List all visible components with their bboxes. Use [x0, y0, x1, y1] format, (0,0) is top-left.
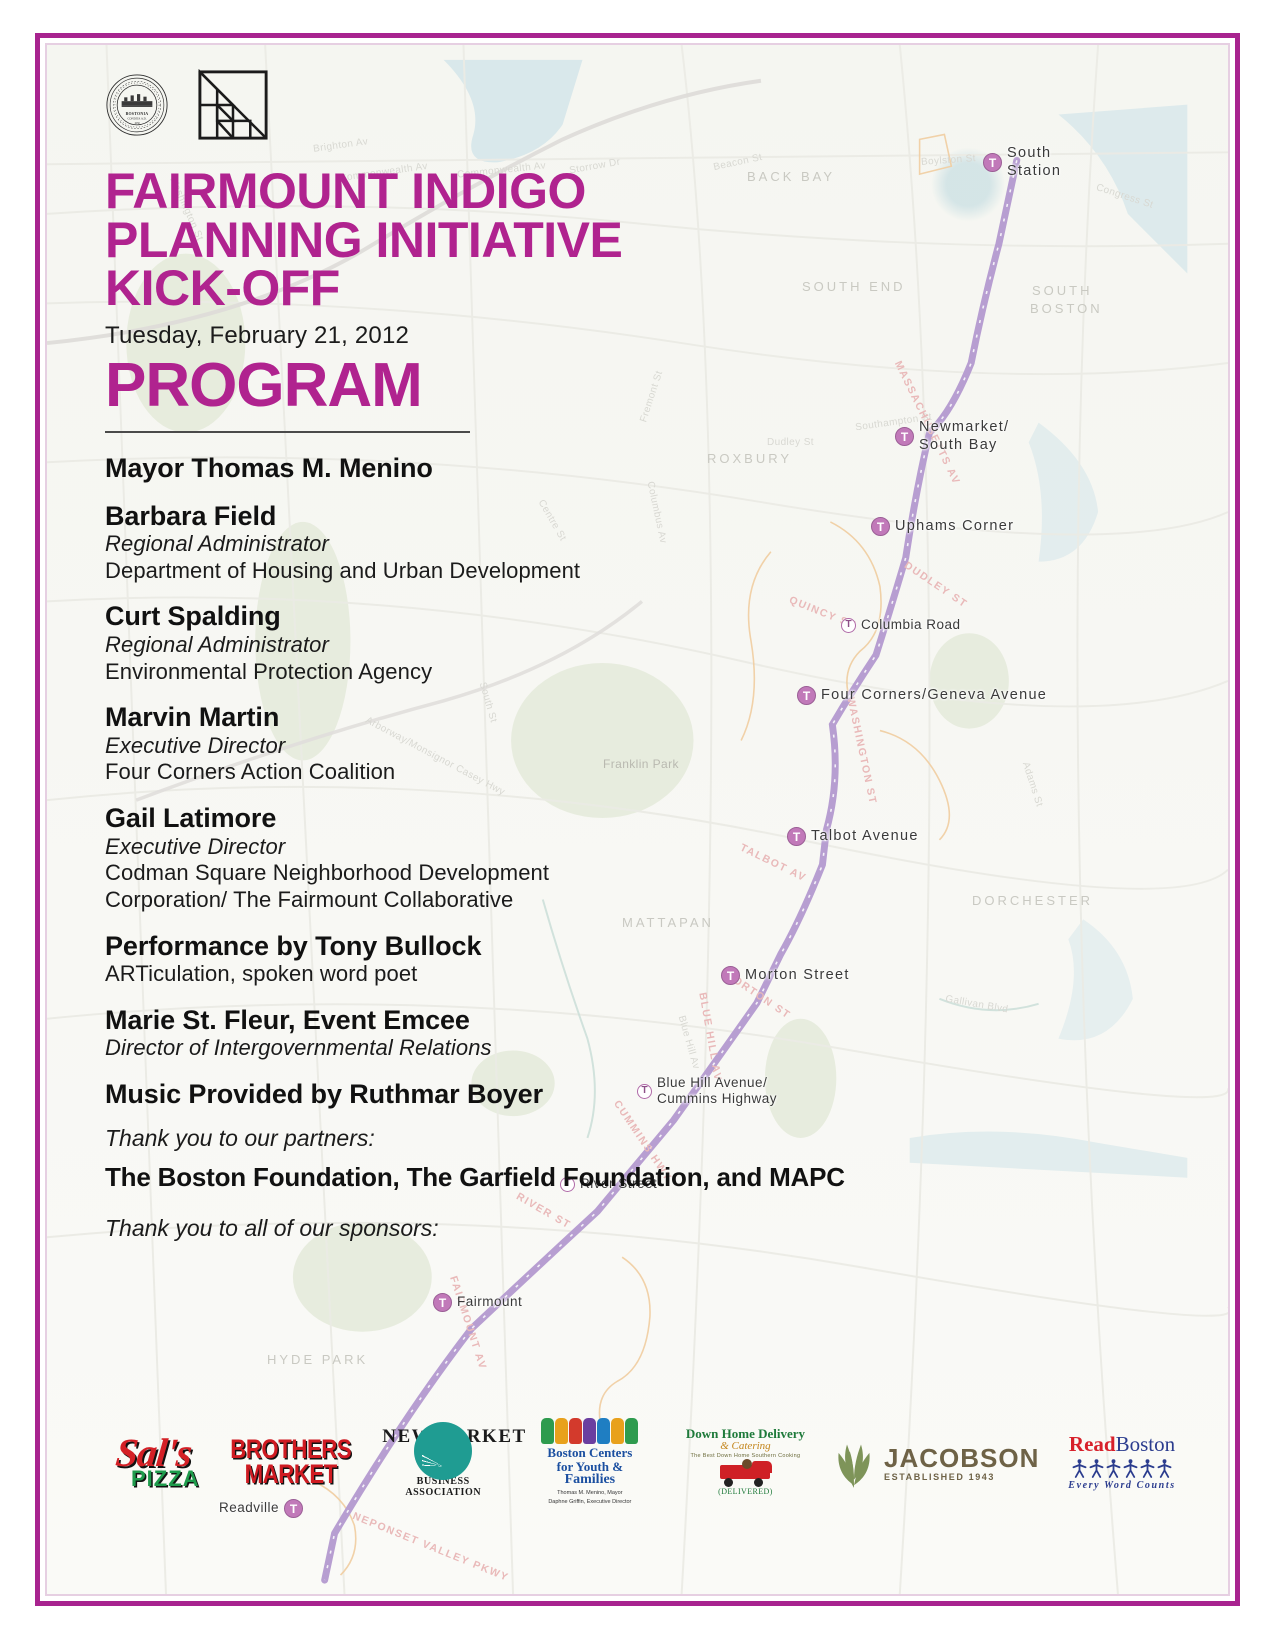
- t-station-icon: T: [841, 618, 856, 633]
- speaker-role: Executive Director: [105, 733, 705, 760]
- sponsors-label: Thank you to all of our sponsors:: [105, 1215, 705, 1242]
- t-station-icon: T: [787, 827, 806, 846]
- street-label-dudley-st: Dudley St: [767, 437, 814, 448]
- readboston-read: Read: [1069, 1432, 1116, 1456]
- program-content: BOSTONIA CONDITA A.D. 1630 FAIRM: [105, 69, 705, 1242]
- sponsor-logo-down-home-delivery-catering: Down Home Delivery & Catering The Best D…: [675, 1420, 815, 1504]
- map-label-hyde-park: HYDE PARK: [267, 1352, 368, 1367]
- program-entry: Marvin Martin Executive Director Four Co…: [105, 702, 705, 786]
- program-heading: PROGRAM: [105, 354, 705, 418]
- boston-city-seal-icon: BOSTONIA CONDITA A.D. 1630: [105, 73, 169, 137]
- sals-wordmark: Sal's: [114, 1434, 193, 1472]
- program-entry: Gail Latimore Executive Director Codman …: [105, 803, 705, 914]
- program-entry: Music Provided by Ruthmar Boyer: [105, 1079, 705, 1109]
- t-station-icon: T: [433, 1293, 452, 1312]
- t-station-icon: T: [797, 686, 816, 705]
- speaker-name: Mayor Thomas M. Menino: [105, 453, 705, 483]
- speaker-role: Regional Administrator: [105, 531, 705, 558]
- sponsor-logo-newmarket-business-association: NEWMARKET BUSINESS ASSOCIATION: [382, 1420, 504, 1504]
- sponsor-logo-boston-centers-for-youth-and-families: Boston Centers for Youth & Families Thom…: [522, 1420, 658, 1504]
- bcyf-line1: Boston Centers: [522, 1446, 658, 1460]
- bcyf-people-icon: [522, 1418, 658, 1444]
- map-label-boston: BOSTON: [1030, 301, 1103, 316]
- station-label-south-station: SouthStation: [1007, 145, 1061, 180]
- readboston-figures-icon: [1057, 1458, 1187, 1478]
- readboston-tagline: Every Word Counts: [1057, 1480, 1187, 1491]
- speaker-role: Director of Intergovernmental Relations: [105, 1035, 705, 1062]
- poster-frame: BACK BAY SOUTH END SOUTH BOSTON ROXBURY …: [35, 33, 1240, 1606]
- dhd-line1: Down Home Delivery: [675, 1427, 815, 1441]
- station-label-four-corners-geneva-avenue: Four Corners/Geneva Avenue: [821, 687, 1047, 705]
- speaker-name: Marie St. Fleur, Event Emcee: [105, 1005, 705, 1035]
- station-columbia-road[interactable]: T Columbia Road: [841, 617, 961, 633]
- page-title: FAIRMOUNT INDIGO PLANNING INITIATIVE KIC…: [105, 167, 705, 313]
- bcyf-line2: for Youth &: [522, 1460, 658, 1474]
- t-station-icon: T: [895, 427, 914, 446]
- newmarket-sunburst-icon: [414, 1422, 472, 1480]
- speaker-role: Regional Administrator: [105, 632, 705, 659]
- svg-text:BOSTONIA: BOSTONIA: [126, 111, 149, 116]
- t-station-icon: T: [871, 517, 890, 536]
- station-label-morton-street: Morton Street: [745, 967, 850, 985]
- sponsor-logo-read-boston: ReadBoston Every Word Counts: [1057, 1420, 1187, 1504]
- station-label-columbia-road: Columbia Road: [861, 617, 961, 633]
- speaker-org: Department of Housing and Urban Developm…: [105, 558, 705, 585]
- station-label-uphams-corner: Uphams Corner: [895, 518, 1014, 536]
- bcyf-line4: Thomas M. Menino, Mayor: [522, 1490, 658, 1497]
- station-talbot-avenue[interactable]: T Talbot Avenue: [787, 827, 919, 846]
- station-newmarket-south-bay[interactable]: T Newmarket/South Bay: [895, 419, 1009, 454]
- program-entry: Barbara Field Regional Administrator Dep…: [105, 501, 705, 585]
- readboston-boston: Boston: [1116, 1432, 1176, 1456]
- map-label-south: SOUTH: [1032, 283, 1093, 298]
- map-label-back-bay: BACK BAY: [747, 169, 835, 184]
- speaker-org: Codman Square Neighborhood Development C…: [105, 860, 705, 914]
- speaker-name: Performance by Tony Bullock: [105, 931, 705, 961]
- station-morton-street[interactable]: T Morton Street: [721, 966, 850, 985]
- poster-inner-border: BACK BAY SOUTH END SOUTH BOSTON ROXBURY …: [45, 43, 1230, 1596]
- market-word: MARKET: [230, 1462, 351, 1487]
- program-entry: Performance by Tony Bullock ARTiculation…: [105, 931, 705, 988]
- speaker-name: Barbara Field: [105, 501, 705, 531]
- sponsor-logo-sals-pizza: Sal's PIZZA: [107, 1420, 200, 1504]
- divider-rule: [105, 431, 470, 433]
- dhd-line4: (DELIVERED): [675, 1488, 815, 1496]
- speaker-role: Executive Director: [105, 834, 705, 861]
- delivery-truck-icon: [714, 1461, 776, 1487]
- program-entry: Marie St. Fleur, Event Emcee Director of…: [105, 1005, 705, 1062]
- t-station-icon: T: [721, 966, 740, 985]
- map-label-roxbury: ROXBURY: [707, 451, 792, 466]
- partners-names: The Boston Foundation, The Garfield Foun…: [105, 1162, 705, 1193]
- station-fairmount[interactable]: T Fairmount: [433, 1293, 522, 1312]
- speaker-name: Gail Latimore: [105, 803, 705, 833]
- speaker-name: Marvin Martin: [105, 702, 705, 732]
- sponsor-logo-brothers-market: BROTHERS MARKET: [217, 1420, 365, 1504]
- partners-label: Thank you to our partners:: [105, 1125, 705, 1152]
- bcyf-line5: Daphne Griffin, Executive Director: [522, 1499, 658, 1506]
- bcyf-line3: Families: [522, 1473, 658, 1488]
- jacobson-wordmark: JACOBSON: [884, 1443, 1039, 1474]
- sponsor-logo-jacobson: JACOBSON ESTABLISHED 1943: [833, 1420, 1039, 1504]
- program-entry: Mayor Thomas M. Menino: [105, 453, 705, 483]
- program-entry: Curt Spalding Regional Administrator Env…: [105, 601, 705, 685]
- speaker-name: Music Provided by Ruthmar Boyer: [105, 1079, 705, 1109]
- svg-text:CONDITA A.D.: CONDITA A.D.: [127, 117, 146, 121]
- station-label-newmarket-south-bay: Newmarket/South Bay: [919, 419, 1009, 454]
- speaker-name: Curt Spalding: [105, 601, 705, 631]
- station-label-fairmount: Fairmount: [457, 1294, 522, 1310]
- sponsor-logo-row: Sal's PIZZA BROTHERS MARKET NEWMARKET BU…: [107, 1417, 1187, 1507]
- station-uphams-corner[interactable]: T Uphams Corner: [871, 517, 1014, 536]
- speaker-org: Four Corners Action Coalition: [105, 759, 705, 786]
- t-station-icon: T: [983, 153, 1002, 172]
- speaker-org: ARTiculation, spoken word poet: [105, 961, 705, 988]
- logo-row: BOSTONIA CONDITA A.D. 1630: [105, 69, 705, 141]
- station-four-corners-geneva-avenue[interactable]: T Four Corners/Geneva Avenue: [797, 686, 1047, 705]
- map-label-south-end: SOUTH END: [802, 279, 906, 294]
- station-south-station[interactable]: T SouthStation: [983, 145, 1061, 180]
- map-label-dorchester: DORCHESTER: [972, 893, 1093, 908]
- bra-logo-icon: [197, 69, 269, 141]
- dhd-line2: & Catering: [675, 1441, 815, 1453]
- readboston-wordmark: ReadBoston: [1057, 1434, 1187, 1455]
- program-list: Mayor Thomas M. Menino Barbara Field Reg…: [105, 453, 705, 1109]
- jacobson-leaf-icon: [833, 1436, 875, 1488]
- svg-text:1630: 1630: [134, 122, 140, 125]
- speaker-org: Environmental Protection Agency: [105, 659, 705, 686]
- event-date: Tuesday, February 21, 2012: [105, 322, 705, 350]
- station-label-talbot-avenue: Talbot Avenue: [811, 828, 919, 846]
